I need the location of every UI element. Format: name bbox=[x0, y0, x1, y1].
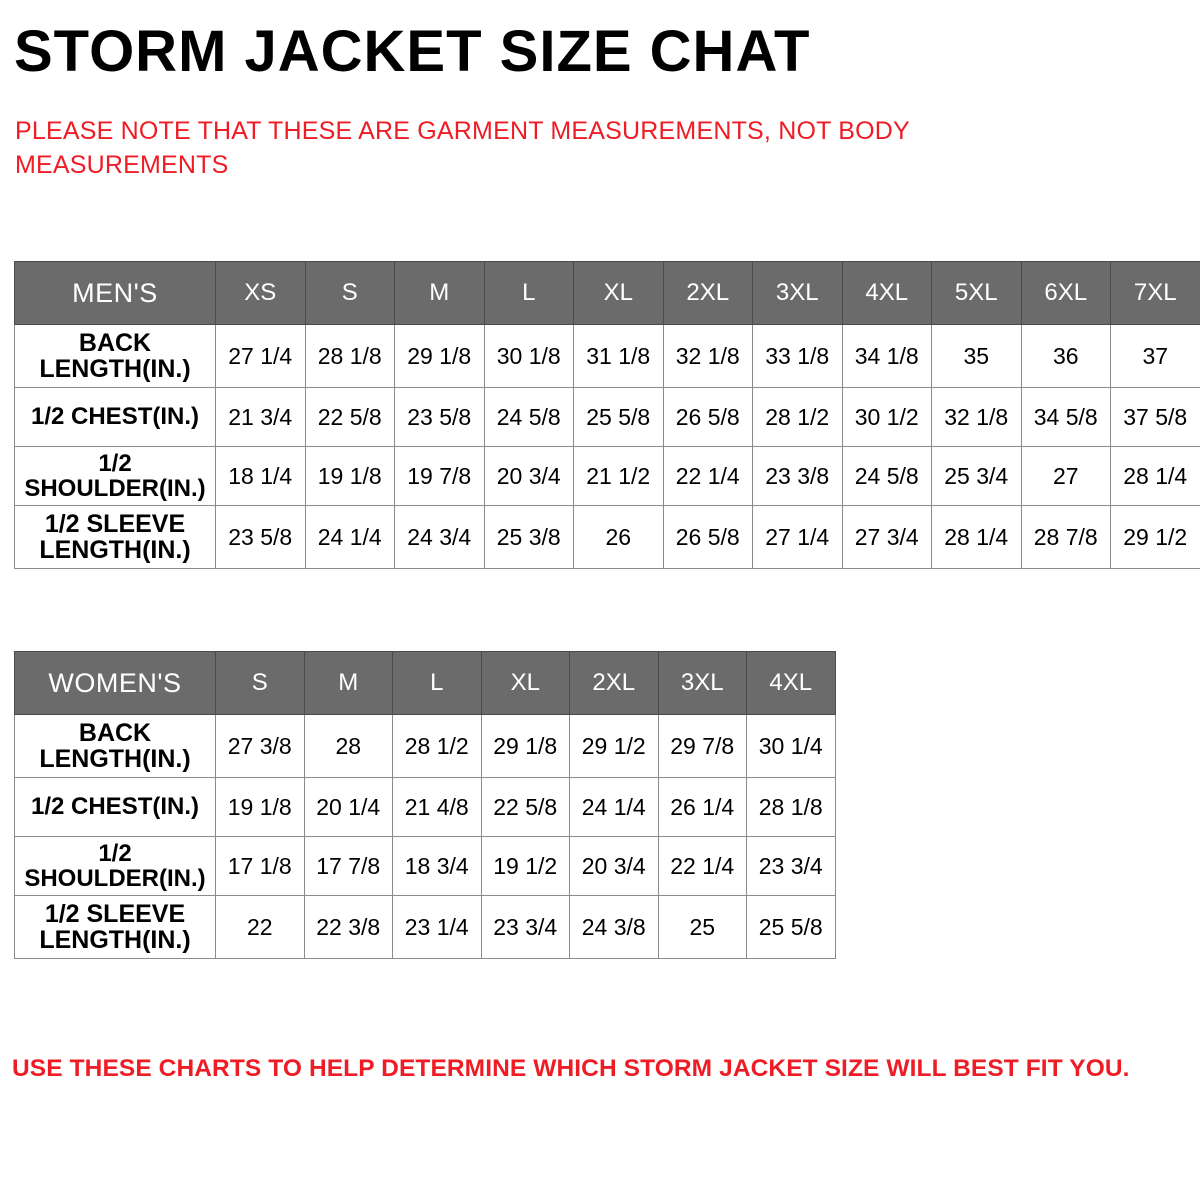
mens-measurement-cell: 34 5/8 bbox=[1021, 388, 1111, 447]
womens-measurement-cell: 22 5/8 bbox=[481, 778, 570, 837]
row-label-line-2: LENGTH(IN.) bbox=[17, 356, 213, 382]
womens-measurement-cell: 22 1/4 bbox=[658, 837, 747, 896]
mens-table-body: BACKLENGTH(IN.)27 1/428 1/829 1/830 1/83… bbox=[15, 325, 1200, 569]
row-label-line-2: LENGTH(IN.) bbox=[17, 746, 213, 772]
use-charts-note: USE THESE CHARTS TO HELP DETERMINE WHICH… bbox=[12, 1055, 1172, 1083]
mens-row-label: 1/2 CHEST(IN.) bbox=[15, 388, 216, 447]
mens-measurement-cell: 25 3/4 bbox=[932, 447, 1022, 506]
mens-size-header-m: M bbox=[395, 262, 485, 325]
page-title: STORM JACKET SIZE CHAT bbox=[14, 22, 810, 83]
womens-measurement-cell: 23 3/4 bbox=[747, 837, 836, 896]
womens-measurement-cell: 19 1/2 bbox=[481, 837, 570, 896]
mens-measurement-cell: 27 1/4 bbox=[216, 325, 306, 388]
womens-measurement-cell: 28 1/8 bbox=[747, 778, 836, 837]
mens-measurement-cell: 26 5/8 bbox=[663, 388, 753, 447]
mens-size-header-6xl: 6XL bbox=[1021, 262, 1111, 325]
womens-measurement-cell: 20 3/4 bbox=[570, 837, 659, 896]
mens-measurement-cell: 19 1/8 bbox=[305, 447, 395, 506]
womens-table-row: 1/2 SLEEVELENGTH(IN.)2222 3/823 1/423 3/… bbox=[15, 896, 836, 959]
womens-table-body: BACKLENGTH(IN.)27 3/82828 1/229 1/829 1/… bbox=[15, 715, 836, 959]
womens-size-table: WOMEN'SSMLXL2XL3XL4XL BACKLENGTH(IN.)27 … bbox=[14, 651, 836, 959]
womens-measurement-cell: 28 bbox=[304, 715, 393, 778]
mens-measurement-cell: 26 5/8 bbox=[663, 506, 753, 569]
mens-corner-header: MEN'S bbox=[15, 262, 216, 325]
mens-measurement-cell: 24 3/4 bbox=[395, 506, 485, 569]
mens-size-table: MEN'SXSSMLXL2XL3XL4XL5XL6XL7XL BACKLENGT… bbox=[14, 261, 1200, 569]
womens-table-header: WOMEN'SSMLXL2XL3XL4XL bbox=[15, 652, 836, 715]
womens-table-row: BACKLENGTH(IN.)27 3/82828 1/229 1/829 1/… bbox=[15, 715, 836, 778]
mens-measurement-cell: 24 5/8 bbox=[842, 447, 932, 506]
womens-corner-header: WOMEN'S bbox=[15, 652, 216, 715]
womens-size-header-xl: XL bbox=[481, 652, 570, 715]
womens-size-header-4xl: 4XL bbox=[747, 652, 836, 715]
womens-size-header-2xl: 2XL bbox=[570, 652, 659, 715]
mens-measurement-cell: 27 3/4 bbox=[842, 506, 932, 569]
mens-measurement-cell: 31 1/8 bbox=[574, 325, 664, 388]
garment-measurement-note: PLEASE NOTE THAT THESE ARE GARMENT MEASU… bbox=[15, 115, 975, 183]
mens-size-header-xs: XS bbox=[216, 262, 306, 325]
mens-measurement-cell: 23 5/8 bbox=[395, 388, 485, 447]
row-label-line-1: 1/2 SLEEVE bbox=[17, 901, 213, 927]
mens-measurement-cell: 22 5/8 bbox=[305, 388, 395, 447]
mens-measurement-cell: 23 3/8 bbox=[753, 447, 843, 506]
mens-measurement-cell: 22 1/4 bbox=[663, 447, 753, 506]
mens-measurement-cell: 21 3/4 bbox=[216, 388, 306, 447]
womens-header-row: WOMEN'SSMLXL2XL3XL4XL bbox=[15, 652, 836, 715]
mens-measurement-cell: 25 3/8 bbox=[484, 506, 574, 569]
womens-measurement-cell: 29 1/8 bbox=[481, 715, 570, 778]
mens-measurement-cell: 25 5/8 bbox=[574, 388, 664, 447]
row-label-line-1: 1/2 SLEEVE bbox=[17, 511, 213, 537]
womens-measurement-cell: 17 7/8 bbox=[304, 837, 393, 896]
mens-size-header-xl: XL bbox=[574, 262, 664, 325]
womens-size-header-m: M bbox=[304, 652, 393, 715]
mens-measurement-cell: 29 1/2 bbox=[1111, 506, 1200, 569]
womens-size-header-s: S bbox=[216, 652, 305, 715]
mens-size-header-s: S bbox=[305, 262, 395, 325]
womens-table-row: 1/2 SHOULDER(IN.)17 1/817 7/818 3/419 1/… bbox=[15, 837, 836, 896]
mens-measurement-cell: 37 5/8 bbox=[1111, 388, 1200, 447]
mens-table-row: 1/2 SLEEVELENGTH(IN.)23 5/824 1/424 3/42… bbox=[15, 506, 1200, 569]
mens-measurement-cell: 32 1/8 bbox=[932, 388, 1022, 447]
womens-measurement-cell: 22 bbox=[216, 896, 305, 959]
size-chart-page: STORM JACKET SIZE CHAT PLEASE NOTE THAT … bbox=[0, 0, 1200, 1200]
mens-measurement-cell: 27 bbox=[1021, 447, 1111, 506]
mens-measurement-cell: 28 1/8 bbox=[305, 325, 395, 388]
womens-measurement-cell: 29 7/8 bbox=[658, 715, 747, 778]
mens-table-header: MEN'SXSSMLXL2XL3XL4XL5XL6XL7XL bbox=[15, 262, 1200, 325]
womens-measurement-cell: 24 3/8 bbox=[570, 896, 659, 959]
mens-measurement-cell: 33 1/8 bbox=[753, 325, 843, 388]
mens-table-row: 1/2 SHOULDER(IN.)18 1/419 1/819 7/820 3/… bbox=[15, 447, 1200, 506]
womens-row-label: 1/2 SHOULDER(IN.) bbox=[15, 837, 216, 896]
mens-measurement-cell: 28 1/4 bbox=[932, 506, 1022, 569]
mens-row-label: 1/2 SLEEVELENGTH(IN.) bbox=[15, 506, 216, 569]
mens-measurement-cell: 26 bbox=[574, 506, 664, 569]
womens-row-label: 1/2 CHEST(IN.) bbox=[15, 778, 216, 837]
mens-measurement-cell: 37 bbox=[1111, 325, 1200, 388]
womens-measurement-cell: 26 1/4 bbox=[658, 778, 747, 837]
womens-measurement-cell: 18 3/4 bbox=[393, 837, 482, 896]
mens-measurement-cell: 34 1/8 bbox=[842, 325, 932, 388]
womens-table-row: 1/2 CHEST(IN.)19 1/820 1/421 4/822 5/824… bbox=[15, 778, 836, 837]
mens-measurement-cell: 20 3/4 bbox=[484, 447, 574, 506]
womens-measurement-cell: 23 3/4 bbox=[481, 896, 570, 959]
mens-measurement-cell: 23 5/8 bbox=[216, 506, 306, 569]
mens-row-label: 1/2 SHOULDER(IN.) bbox=[15, 447, 216, 506]
mens-size-header-2xl: 2XL bbox=[663, 262, 753, 325]
womens-measurement-cell: 28 1/2 bbox=[393, 715, 482, 778]
mens-row-label: BACKLENGTH(IN.) bbox=[15, 325, 216, 388]
mens-size-header-7xl: 7XL bbox=[1111, 262, 1200, 325]
mens-measurement-cell: 28 1/4 bbox=[1111, 447, 1200, 506]
row-label-line-1: BACK bbox=[17, 720, 213, 746]
mens-measurement-cell: 28 7/8 bbox=[1021, 506, 1111, 569]
mens-table-row: BACKLENGTH(IN.)27 1/428 1/829 1/830 1/83… bbox=[15, 325, 1200, 388]
womens-measurement-cell: 24 1/4 bbox=[570, 778, 659, 837]
womens-measurement-cell: 25 bbox=[658, 896, 747, 959]
womens-measurement-cell: 30 1/4 bbox=[747, 715, 836, 778]
mens-size-header-5xl: 5XL bbox=[932, 262, 1022, 325]
mens-measurement-cell: 24 5/8 bbox=[484, 388, 574, 447]
womens-measurement-cell: 22 3/8 bbox=[304, 896, 393, 959]
mens-measurement-cell: 36 bbox=[1021, 325, 1111, 388]
mens-measurement-cell: 29 1/8 bbox=[395, 325, 485, 388]
mens-size-header-3xl: 3XL bbox=[753, 262, 843, 325]
mens-table-row: 1/2 CHEST(IN.)21 3/422 5/823 5/824 5/825… bbox=[15, 388, 1200, 447]
womens-measurement-cell: 20 1/4 bbox=[304, 778, 393, 837]
womens-measurement-cell: 19 1/8 bbox=[216, 778, 305, 837]
row-label-line-1: BACK bbox=[17, 330, 213, 356]
womens-measurement-cell: 21 4/8 bbox=[393, 778, 482, 837]
row-label-line-2: LENGTH(IN.) bbox=[17, 537, 213, 563]
womens-row-label: 1/2 SLEEVELENGTH(IN.) bbox=[15, 896, 216, 959]
mens-measurement-cell: 28 1/2 bbox=[753, 388, 843, 447]
womens-measurement-cell: 27 3/8 bbox=[216, 715, 305, 778]
mens-header-row: MEN'SXSSMLXL2XL3XL4XL5XL6XL7XL bbox=[15, 262, 1200, 325]
mens-measurement-cell: 30 1/2 bbox=[842, 388, 932, 447]
mens-measurement-cell: 30 1/8 bbox=[484, 325, 574, 388]
row-label-line-2: LENGTH(IN.) bbox=[17, 927, 213, 953]
mens-measurement-cell: 24 1/4 bbox=[305, 506, 395, 569]
womens-measurement-cell: 29 1/2 bbox=[570, 715, 659, 778]
womens-row-label: BACKLENGTH(IN.) bbox=[15, 715, 216, 778]
mens-measurement-cell: 21 1/2 bbox=[574, 447, 664, 506]
womens-size-header-3xl: 3XL bbox=[658, 652, 747, 715]
mens-size-header-4xl: 4XL bbox=[842, 262, 932, 325]
mens-size-header-l: L bbox=[484, 262, 574, 325]
mens-measurement-cell: 19 7/8 bbox=[395, 447, 485, 506]
mens-measurement-cell: 32 1/8 bbox=[663, 325, 753, 388]
womens-measurement-cell: 23 1/4 bbox=[393, 896, 482, 959]
mens-measurement-cell: 27 1/4 bbox=[753, 506, 843, 569]
mens-measurement-cell: 18 1/4 bbox=[216, 447, 306, 506]
mens-measurement-cell: 35 bbox=[932, 325, 1022, 388]
womens-measurement-cell: 25 5/8 bbox=[747, 896, 836, 959]
womens-measurement-cell: 17 1/8 bbox=[216, 837, 305, 896]
womens-size-header-l: L bbox=[393, 652, 482, 715]
